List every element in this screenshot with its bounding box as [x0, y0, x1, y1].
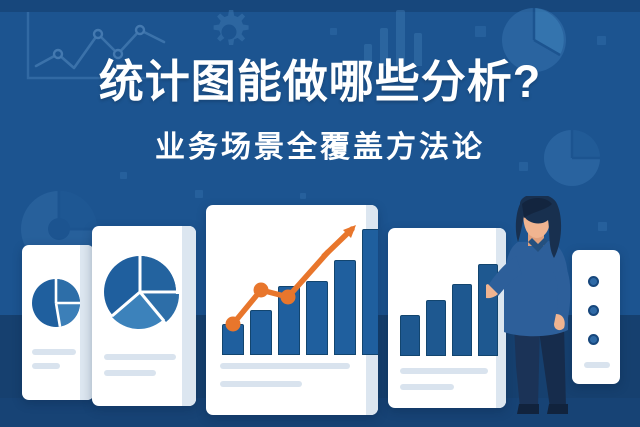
pie-chart	[102, 254, 182, 334]
square-dot-decoration	[120, 172, 127, 179]
text-placeholder-line	[220, 381, 302, 387]
text-placeholder-line	[32, 349, 76, 355]
poster-canvas: 统计图能做哪些分析? 业务场景全覆盖方法论	[0, 0, 640, 427]
gear-icon	[205, 8, 253, 56]
list-item[interactable]	[92, 226, 196, 406]
page-title: 统计图能做哪些分析?	[0, 58, 640, 107]
page-subtitle: 业务场景全覆盖方法论	[0, 131, 640, 166]
square-dot-decoration	[475, 26, 486, 37]
businesswoman-presenter	[486, 196, 590, 427]
text-placeholder-line	[400, 368, 488, 374]
square-dot-decoration	[597, 36, 606, 45]
bar	[452, 284, 472, 356]
square-dot-decoration	[330, 28, 337, 35]
bar	[400, 315, 420, 356]
square-dot-decoration	[300, 193, 306, 199]
list-item[interactable]	[22, 245, 94, 400]
text-placeholder-line	[400, 384, 454, 390]
square-dot-decoration	[598, 222, 607, 231]
text-placeholder-line	[104, 354, 176, 360]
text-placeholder-line	[220, 363, 350, 369]
text-placeholder-line	[104, 370, 156, 376]
square-dot-decoration	[195, 190, 203, 198]
list-item[interactable]	[206, 205, 378, 415]
bar	[426, 300, 446, 356]
pie-chart	[30, 277, 82, 329]
text-placeholder-line	[32, 363, 60, 369]
card-edge	[182, 226, 196, 406]
